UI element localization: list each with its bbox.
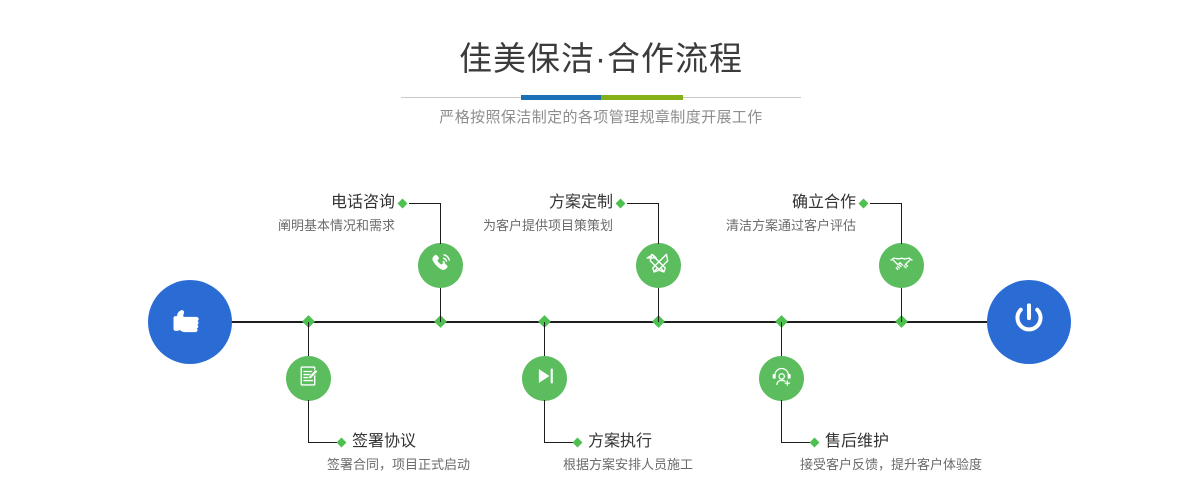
- customer-support-icon: [769, 363, 795, 394]
- label-marker: [573, 438, 583, 448]
- connector-vertical: [901, 203, 902, 244]
- handshake-icon: [888, 250, 915, 282]
- connector-vertical: [308, 400, 309, 442]
- step-title-3: 方案定制: [413, 193, 613, 213]
- step-icon-4[interactable]: [522, 356, 567, 401]
- step-title-2: 签署协议: [352, 432, 416, 452]
- label-marker: [616, 199, 626, 209]
- step-desc-3: 为客户提供项目策策划: [373, 217, 613, 235]
- step-desc-2: 签署合同，项目正式启动: [327, 456, 470, 474]
- document-signing-icon: [296, 363, 322, 394]
- connector-horizontal: [627, 203, 659, 204]
- play-forward-icon: [532, 363, 558, 394]
- step-desc-5: 清洁方案通过客户评估: [616, 217, 856, 235]
- connector-vertical: [308, 322, 309, 356]
- label-marker: [810, 438, 820, 448]
- connector-vertical: [440, 288, 441, 322]
- step-title-1: 电话咨询: [195, 193, 395, 213]
- timeline-end-endpoint: [987, 280, 1071, 364]
- step-icon-1[interactable]: [418, 243, 463, 288]
- connector-vertical: [781, 322, 782, 356]
- step-icon-3[interactable]: [636, 243, 681, 288]
- label-marker: [859, 199, 869, 209]
- step-icon-5[interactable]: [879, 243, 924, 288]
- pencil-ruler-icon: [646, 250, 672, 281]
- connector-horizontal: [870, 203, 902, 204]
- step-desc-4: 根据方案安排人员施工: [563, 456, 693, 474]
- label-marker: [398, 199, 408, 209]
- timeline-start-endpoint: [148, 280, 232, 364]
- process-timeline: 电话咨询 阐明基本情况和需求 签署协议 签署合同，项目正式启动: [0, 0, 1202, 502]
- power-button-icon: [1007, 298, 1051, 347]
- connector-vertical: [544, 400, 545, 442]
- step-icon-2[interactable]: [286, 356, 331, 401]
- pointing-hand-icon: [167, 297, 213, 348]
- step-desc-6: 接受客户反馈，提升客户体验度: [800, 456, 982, 474]
- step-icon-6[interactable]: [759, 356, 804, 401]
- label-marker: [337, 438, 347, 448]
- phone-call-icon: [428, 250, 454, 281]
- step-title-6: 售后维护: [825, 432, 889, 452]
- connector-vertical: [658, 288, 659, 322]
- connector-vertical: [544, 322, 545, 356]
- step-desc-1: 阐明基本情况和需求: [155, 217, 395, 235]
- step-title-4: 方案执行: [588, 432, 652, 452]
- step-title-5: 确立合作: [656, 193, 856, 213]
- connector-vertical: [781, 400, 782, 442]
- connector-vertical: [901, 288, 902, 322]
